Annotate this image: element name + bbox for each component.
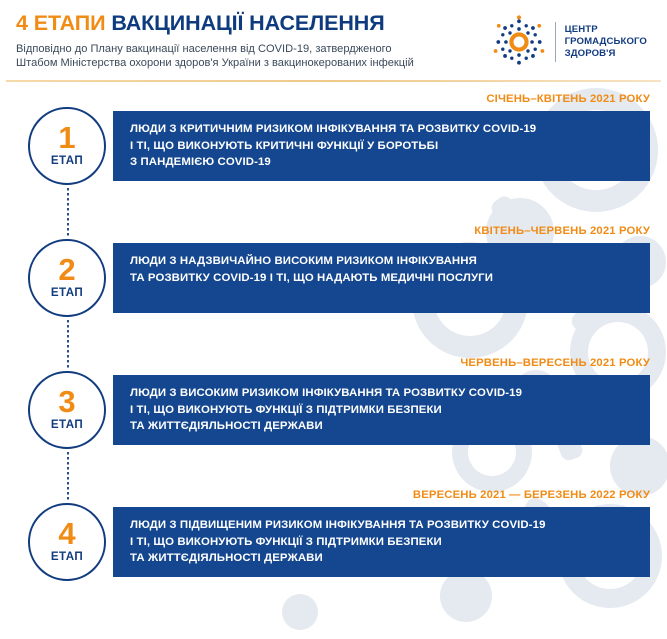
logo-divider xyxy=(555,22,556,62)
page-title: 4 ЕТАПИ ВАКЦИНАЦІЇ НАСЕЛЕННЯ xyxy=(16,12,486,35)
header-text-block: 4 ЕТАПИ ВАКЦИНАЦІЇ НАСЕЛЕННЯ Відповідно … xyxy=(16,12,486,71)
stage-bar: ЛЮДИ З КРИТИЧНИМ РИЗИКОМ ІНФІКУВАННЯ ТА … xyxy=(113,111,650,181)
stage-date: КВІТЕНЬ–ЧЕРВЕНЬ 2021 РОКУ xyxy=(474,225,650,237)
page-subtitle-line2: Штабом Міністерства охорони здоров'я Укр… xyxy=(16,56,486,71)
stage-label: ЕТАП xyxy=(51,286,83,299)
logo-wordmark: ЦЕНТР ГРОМАДСЬКОГО ЗДОРОВ'Я xyxy=(565,24,647,61)
stage-description: ЛЮДИ З ПІДВИЩЕНИМ РИЗИКОМ ІНФІКУВАННЯ ТА… xyxy=(130,517,636,567)
stage-description: ЛЮДИ З ВИСОКИМ РИЗИКОМ ІНФІКУВАННЯ ТА РО… xyxy=(130,385,636,435)
logo-line-2: ГРОМАДСЬКОГО xyxy=(565,36,647,48)
organization-logo: ЦЕНТР ГРОМАДСЬКОГО ЗДОРОВ'Я xyxy=(492,15,647,69)
logo-line-3: ЗДОРОВ'Я xyxy=(565,48,647,60)
stage-bar: ЛЮДИ З ВИСОКИМ РИЗИКОМ ІНФІКУВАННЯ ТА РО… xyxy=(113,375,650,445)
page-subtitle-line1: Відповідно до Плану вакцинації населення… xyxy=(16,42,486,57)
header-divider xyxy=(6,80,661,82)
stage-date: ЧЕРВЕНЬ–ВЕРЕСЕНЬ 2021 РОКУ xyxy=(460,357,650,369)
page-title-accent: 4 ЕТАПИ xyxy=(16,11,106,35)
stage-badge: 4 ЕТАП xyxy=(28,503,106,581)
stage-label: ЕТАП xyxy=(51,154,83,167)
stage-date: СІЧЕНЬ–КВІТЕНЬ 2021 РОКУ xyxy=(486,93,650,105)
virus-dots-circle-icon xyxy=(492,15,546,69)
stage-number: 2 xyxy=(58,256,75,285)
stage-bar: ЛЮДИ З НАДЗВИЧАЙНО ВИСОКИМ РИЗИКОМ ІНФІК… xyxy=(113,243,650,313)
stage-description: ЛЮДИ З КРИТИЧНИМ РИЗИКОМ ІНФІКУВАННЯ ТА … xyxy=(130,121,636,171)
stage-connector-dotted-line xyxy=(67,320,69,368)
stage-item: КВІТЕНЬ–ЧЕРВЕНЬ 2021 РОКУ ЛЮДИ З НАДЗВИЧ… xyxy=(0,225,667,357)
stage-label: ЕТАП xyxy=(51,550,83,563)
stage-date: ВЕРЕСЕНЬ 2021 — БЕРЕЗЕНЬ 2022 РОКУ xyxy=(413,489,650,501)
stages-list: СІЧЕНЬ–КВІТЕНЬ 2021 РОКУ ЛЮДИ З КРИТИЧНИ… xyxy=(0,93,667,621)
stage-badge: 3 ЕТАП xyxy=(28,371,106,449)
stage-label: ЕТАП xyxy=(51,418,83,431)
stage-item: ЧЕРВЕНЬ–ВЕРЕСЕНЬ 2021 РОКУ ЛЮДИ З ВИСОКИ… xyxy=(0,357,667,489)
page-title-main: ВАКЦИНАЦІЇ НАСЕЛЕННЯ xyxy=(111,11,384,35)
stage-item: СІЧЕНЬ–КВІТЕНЬ 2021 РОКУ ЛЮДИ З КРИТИЧНИ… xyxy=(0,93,667,225)
stage-number: 1 xyxy=(58,124,75,153)
stage-item: ВЕРЕСЕНЬ 2021 — БЕРЕЗЕНЬ 2022 РОКУ ЛЮДИ … xyxy=(0,489,667,621)
stage-connector-dotted-line xyxy=(67,452,69,500)
stage-connector-dotted-line xyxy=(67,188,69,236)
stage-badge: 2 ЕТАП xyxy=(28,239,106,317)
stage-badge: 1 ЕТАП xyxy=(28,107,106,185)
stage-number: 4 xyxy=(58,520,75,549)
stage-bar: ЛЮДИ З ПІДВИЩЕНИМ РИЗИКОМ ІНФІКУВАННЯ ТА… xyxy=(113,507,650,577)
logo-line-1: ЦЕНТР xyxy=(565,24,647,36)
page-header: 4 ЕТАПИ ВАКЦИНАЦІЇ НАСЕЛЕННЯ Відповідно … xyxy=(0,0,667,78)
stage-description: ЛЮДИ З НАДЗВИЧАЙНО ВИСОКИМ РИЗИКОМ ІНФІК… xyxy=(130,253,636,286)
stage-number: 3 xyxy=(58,388,75,417)
